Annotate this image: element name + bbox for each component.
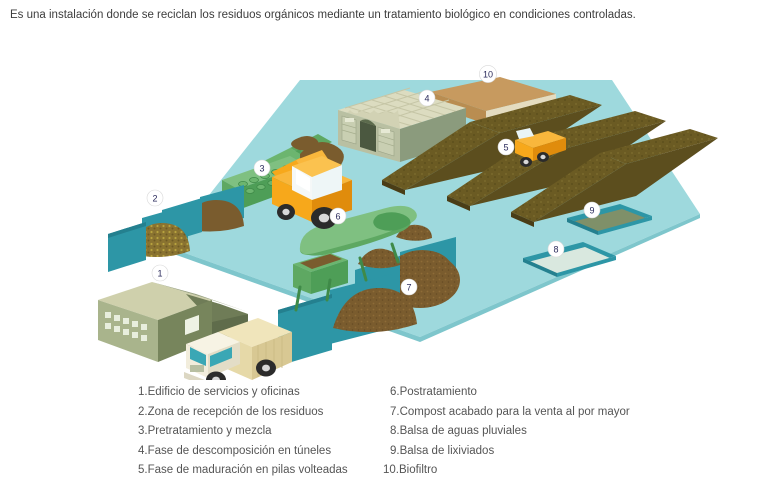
legend-item-10: 10.Biofiltro xyxy=(383,461,690,481)
marker-badge-1[interactable]: 1 xyxy=(152,265,168,281)
legend-item-9: 9.Balsa de lixiviados xyxy=(390,442,690,462)
marker-label: 1 xyxy=(157,268,162,278)
marker-label: 9 xyxy=(589,205,594,215)
legend-column-right: 6.Postratamiento 7.Compost acabado para … xyxy=(390,383,690,481)
legend: 1.Edificio de servicios y oficinas 2.Zon… xyxy=(0,383,760,488)
marker-badge-3[interactable]: 3 xyxy=(254,160,270,176)
marker-badge-5[interactable]: 5 xyxy=(498,139,514,155)
marker-label: 5 xyxy=(503,142,508,152)
marker-badge-10[interactable]: 10 xyxy=(479,65,496,82)
legend-item-1: 1.Edificio de servicios y oficinas xyxy=(138,383,398,403)
legend-item-3: 3.Pretratamiento y mezcla xyxy=(138,422,398,442)
marker-badge-6[interactable]: 6 xyxy=(330,208,346,224)
legend-item-8: 8.Balsa de aguas pluviales xyxy=(390,422,690,442)
legend-item-4: 4.Fase de descomposición en túneles xyxy=(138,442,398,462)
legend-item-2: 2.Zona de recepción de los residuos xyxy=(138,403,398,423)
legend-item-6: 6.Postratamiento xyxy=(390,383,690,403)
legend-item-5: 5.Fase de maduración en pilas volteadas xyxy=(138,461,398,481)
marker-badge-2[interactable]: 2 xyxy=(147,190,163,206)
marker-label: 8 xyxy=(553,244,558,254)
marker-badge-9[interactable]: 9 xyxy=(584,202,600,218)
legend-item-7: 7.Compost acabado para la venta al por m… xyxy=(390,403,690,423)
marker-label: 6 xyxy=(335,211,340,221)
marker-label: 3 xyxy=(259,163,264,173)
intro-paragraph: Es una instalación donde se reciclan los… xyxy=(10,8,750,23)
legend-column-left: 1.Edificio de servicios y oficinas 2.Zon… xyxy=(138,383,398,481)
marker-label: 10 xyxy=(483,69,493,79)
marker-label: 7 xyxy=(406,282,411,292)
composting-plant-diagram: 1 2 3 4 5 6 7 8 xyxy=(0,32,760,380)
marker-label: 4 xyxy=(424,93,429,103)
marker-badge-4[interactable]: 4 xyxy=(419,90,435,106)
marker-badge-7[interactable]: 7 xyxy=(401,279,417,295)
marker-badge-8[interactable]: 8 xyxy=(548,241,564,257)
marker-label: 2 xyxy=(152,193,157,203)
